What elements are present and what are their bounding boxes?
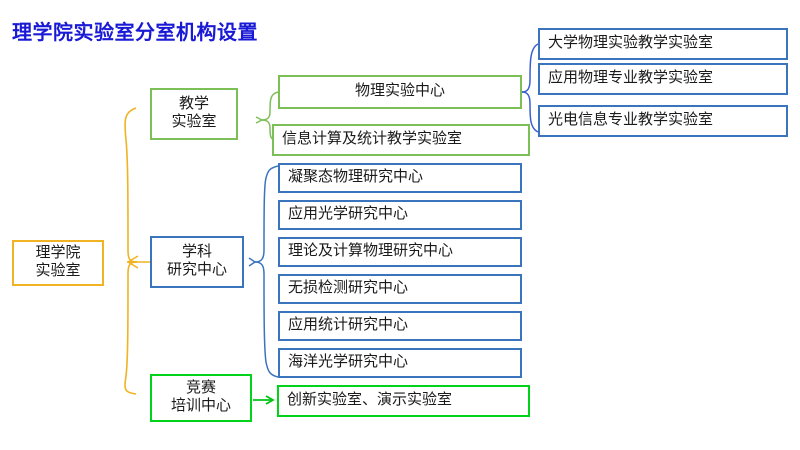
node-condensed-matter-physics-center[interactable]: 凝聚态物理研究中心 <box>278 163 522 193</box>
node-condensed-matter-physics-center-label: 凝聚态物理研究中心 <box>288 169 423 187</box>
node-optoelectronic-info-lab-label: 光电信息专业教学实验室 <box>548 112 713 130</box>
node-optoelectronic-info-lab[interactable]: 光电信息专业教学实验室 <box>538 105 788 137</box>
root-brace <box>125 108 138 394</box>
node-applied-optics-center[interactable]: 应用光学研究中心 <box>278 200 522 230</box>
node-info-computing-statistics-lab-label: 信息计算及统计教学实验室 <box>282 131 462 149</box>
node-applied-physics-lab[interactable]: 应用物理专业教学实验室 <box>538 63 788 95</box>
node-teaching-lab-label: 教学 实验室 <box>171 96 216 131</box>
node-theoretical-computational-physics-center[interactable]: 理论及计算物理研究中心 <box>278 237 522 267</box>
research-brace <box>249 166 278 377</box>
diagram-canvas: 理学院实验室分室机构设置 <box>0 0 800 450</box>
node-marine-optics-center[interactable]: 海洋光学研究中心 <box>278 348 522 378</box>
node-root-label: 理学院 实验室 <box>35 245 80 280</box>
node-university-physics-lab-label: 大学物理实验教学实验室 <box>548 35 713 53</box>
node-contest-training[interactable]: 竞赛 培训中心 <box>150 374 252 422</box>
node-info-computing-statistics-lab[interactable]: 信息计算及统计教学实验室 <box>272 124 530 156</box>
node-nondestructive-testing-center-label: 无损检测研究中心 <box>288 280 408 298</box>
node-nondestructive-testing-center[interactable]: 无损检测研究中心 <box>278 274 522 304</box>
node-discipline-research-label: 学科 研究中心 <box>167 244 227 279</box>
node-physics-center[interactable]: 物理实验中心 <box>278 75 522 109</box>
node-innovation-demo-lab[interactable]: 创新实验室、演示实验室 <box>277 385 530 417</box>
node-applied-physics-lab-label: 应用物理专业教学实验室 <box>548 70 713 88</box>
node-teaching-lab[interactable]: 教学 实验室 <box>150 88 238 140</box>
node-root[interactable]: 理学院 实验室 <box>12 240 104 286</box>
node-applied-statistics-center[interactable]: 应用统计研究中心 <box>278 311 522 341</box>
node-innovation-demo-lab-label: 创新实验室、演示实验室 <box>287 392 452 410</box>
node-applied-optics-center-label: 应用光学研究中心 <box>288 206 408 224</box>
node-university-physics-lab[interactable]: 大学物理实验教学实验室 <box>538 28 788 60</box>
node-marine-optics-center-label: 海洋光学研究中心 <box>288 354 408 372</box>
contest-arrow <box>253 396 273 404</box>
page-title: 理学院实验室分室机构设置 <box>12 16 258 45</box>
node-discipline-research[interactable]: 学科 研究中心 <box>150 236 244 288</box>
node-applied-statistics-center-label: 应用统计研究中心 <box>288 317 408 335</box>
node-contest-training-label: 竞赛 培训中心 <box>171 380 231 415</box>
node-theoretical-computational-physics-center-label: 理论及计算物理研究中心 <box>288 243 453 261</box>
node-physics-center-label: 物理实验中心 <box>355 83 445 101</box>
